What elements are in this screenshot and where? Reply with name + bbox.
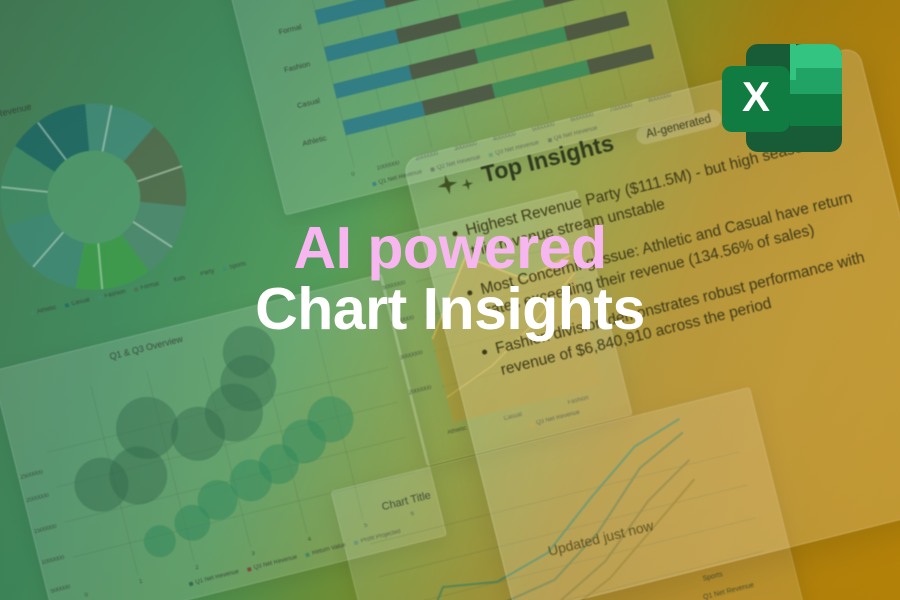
poster-canvas: Q1 Net Revenue Athletic Casual Fashion F… xyxy=(0,0,900,600)
donut-chart-title: Q1 Net Revenue xyxy=(0,101,32,126)
excel-letter: X xyxy=(742,73,770,120)
microsoft-excel-logo: X xyxy=(718,38,846,158)
updated-timestamp: Updated just now xyxy=(546,517,655,559)
insights-title: Top Insights xyxy=(479,130,617,189)
ai-generated-badge: AI-generated xyxy=(634,107,722,145)
sparkles-icon xyxy=(434,167,475,197)
hero-title: AI powered Chart Insights xyxy=(0,218,900,340)
hero-line-1: AI powered xyxy=(0,218,900,279)
hero-line-2: Chart Insights xyxy=(0,279,900,340)
